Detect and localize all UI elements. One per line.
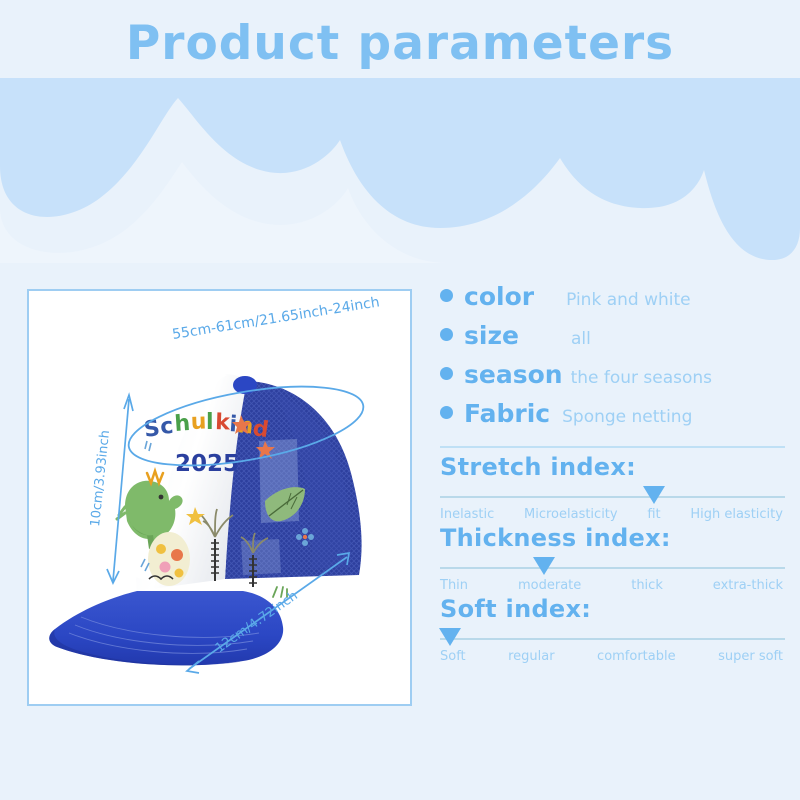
svg-text:l: l (206, 410, 214, 435)
scale-label: thick (631, 578, 663, 593)
specs-column: color Pink and white size all season the… (440, 282, 785, 712)
stretch-index-block: Stretch index: Inelastic Microelasticity… (440, 453, 785, 522)
spec-value-size: all (571, 329, 591, 349)
soft-index-block: Soft index: Soft regular comfortable sup… (440, 595, 785, 664)
thickness-index-block: Thickness index: Thin moderate thick ext… (440, 524, 785, 593)
spec-key-fabric: Fabric (464, 399, 550, 428)
thickness-index-labels: Thin moderate thick extra-thick (440, 578, 785, 593)
spec-key-size: size (464, 321, 519, 350)
soft-index-title: Soft index: (440, 595, 785, 623)
spec-row-fabric: Fabric Sponge netting (440, 399, 785, 438)
scale-label: super soft (718, 649, 783, 664)
svg-text:u: u (190, 409, 207, 435)
soft-index-marker (439, 628, 461, 646)
soft-index-scale (440, 625, 785, 651)
spec-key-season: season (464, 360, 563, 389)
spec-row-season: season the four seasons (440, 360, 785, 399)
spec-value-color: Pink and white (566, 290, 691, 310)
decorative-wave-band (0, 78, 800, 263)
scale-label: comfortable (597, 649, 676, 664)
scale-label: Microelasticity (524, 507, 618, 522)
spec-value-fabric: Sponge netting (562, 407, 692, 427)
svg-text:h: h (174, 411, 191, 437)
page-title: Product parameters (0, 16, 800, 71)
thickness-index-scale (440, 554, 785, 580)
scale-label: Thin (440, 578, 468, 593)
scale-line (440, 567, 785, 569)
thickness-index-title: Thickness index: (440, 524, 785, 552)
bullet-icon (440, 328, 453, 341)
spec-key-color: color (464, 282, 534, 311)
stretch-index-title: Stretch index: (440, 453, 785, 481)
scale-line (440, 496, 785, 498)
scale-line (440, 638, 785, 640)
soft-index-labels: Soft regular comfortable super soft (440, 649, 785, 664)
spec-value-season: the four seasons (571, 368, 712, 388)
bullet-icon (440, 289, 453, 302)
stretch-index-marker (643, 486, 665, 504)
stretch-index-labels: Inelastic Microelasticity fit High elast… (440, 507, 785, 522)
section-divider (440, 446, 785, 448)
scale-label: fit (647, 507, 660, 522)
scale-label: High elasticity (690, 507, 783, 522)
scale-label: moderate (518, 578, 581, 593)
product-image-panel: S c h u l k i n d 2025 (27, 289, 412, 706)
product-parameters-infographic: Product parameters (0, 0, 800, 800)
spec-row-color: color Pink and white (440, 282, 785, 321)
scale-label: Soft (440, 649, 466, 664)
bullet-icon (440, 367, 453, 380)
scale-label: regular (508, 649, 554, 664)
bullet-icon (440, 406, 453, 419)
scale-label: Inelastic (440, 507, 494, 522)
stretch-index-scale (440, 483, 785, 509)
thickness-index-marker (533, 557, 555, 575)
svg-text:2025: 2025 (175, 451, 239, 477)
scale-label: extra-thick (713, 578, 783, 593)
svg-text:c: c (159, 414, 175, 440)
spec-row-size: size all (440, 321, 785, 360)
